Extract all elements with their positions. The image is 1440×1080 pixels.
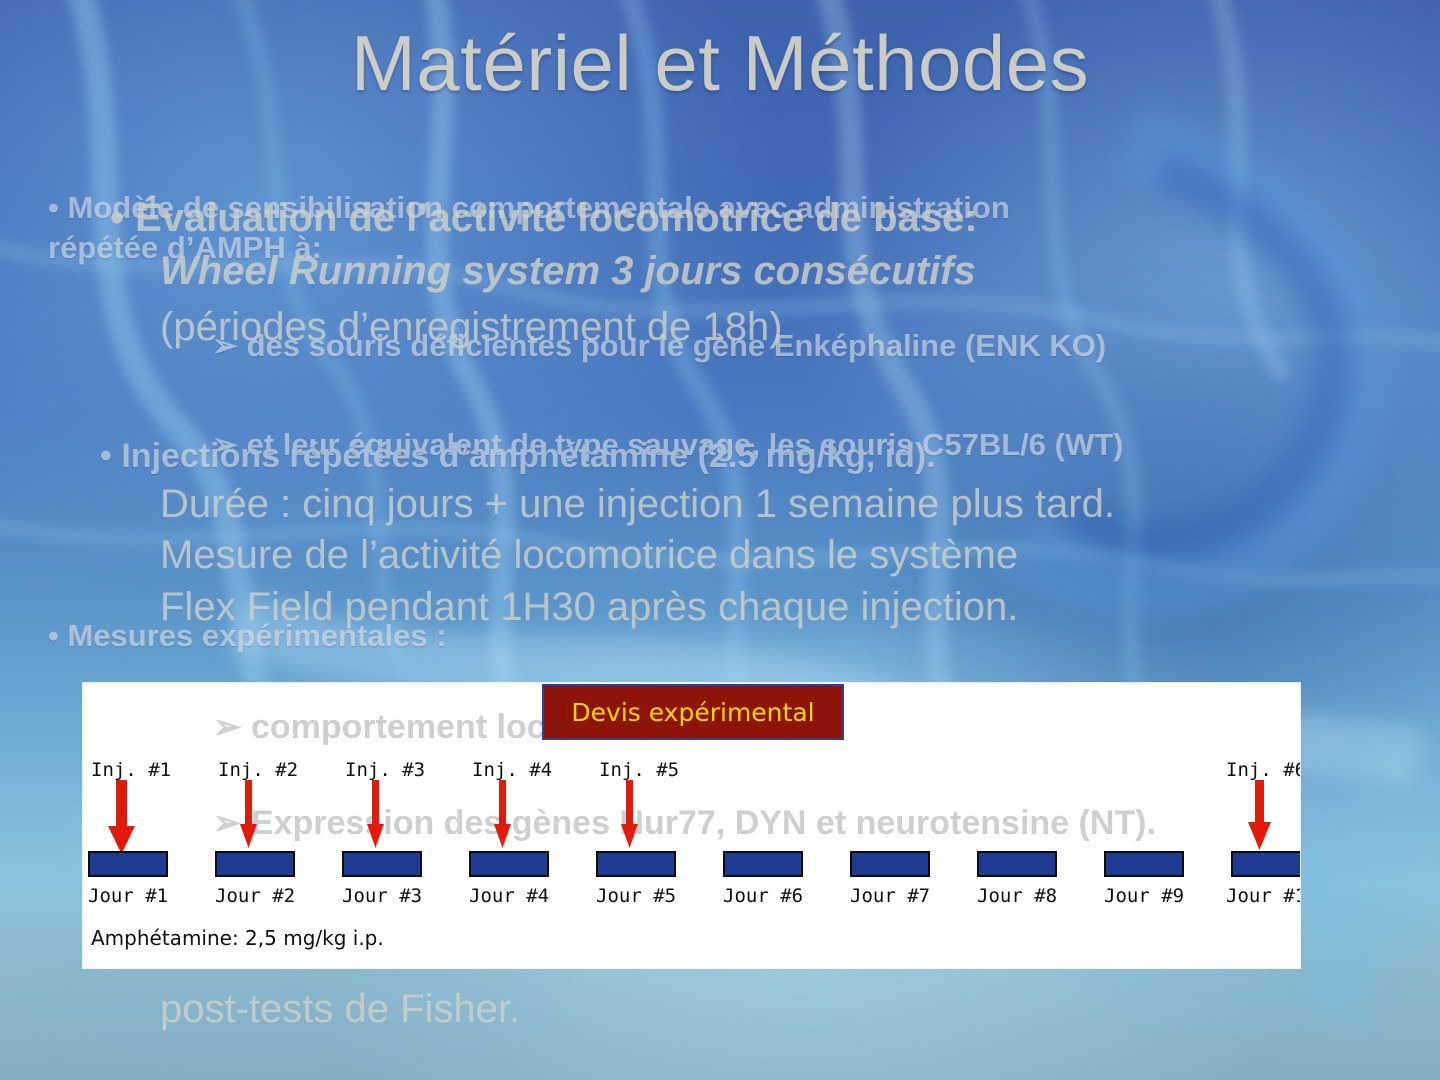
day-label-10: Jour #10 <box>1226 885 1300 907</box>
experimental-design-panel: ➢ comportement locomoteur ➢ Expression d… <box>83 683 1300 968</box>
injection-arrow-2 <box>240 780 257 848</box>
new-line-1: Wheel Running system 3 jours consécutifs <box>160 249 976 294</box>
day-box-2 <box>215 851 295 877</box>
new-line-2: (périodes d’enregistrement de 18h) <box>160 305 783 350</box>
day-box-8 <box>977 851 1057 877</box>
day-label-1: Jour #1 <box>88 885 168 907</box>
day-label-6: Jour #6 <box>723 885 803 907</box>
day-box-9 <box>1104 851 1184 877</box>
devis-experimental-label: Devis expérimental <box>542 684 844 740</box>
day-label-8: Jour #8 <box>977 885 1057 907</box>
day-box-10 <box>1231 851 1300 877</box>
new-line-4: Mesure de l’activité locomotrice dans le… <box>160 533 1018 578</box>
new-line-0: • Évaluation de l’activité locomotrice d… <box>110 196 978 241</box>
day-box-1 <box>88 851 168 877</box>
injection-arrow-6 <box>1248 780 1271 850</box>
day-box-6 <box>723 851 803 877</box>
day-box-3 <box>342 851 422 877</box>
day-label-2: Jour #2 <box>215 885 295 907</box>
day-label-7: Jour #7 <box>850 885 930 907</box>
day-label-3: Jour #3 <box>342 885 422 907</box>
injection-arrow-3 <box>367 780 384 848</box>
new-line-3: Durée : cinq jours + une injection 1 sem… <box>160 482 1115 527</box>
new-line-6: post-tests de Fisher. <box>160 987 520 1032</box>
day-box-4 <box>469 851 549 877</box>
day-box-7 <box>850 851 930 877</box>
day-label-4: Jour #4 <box>469 885 549 907</box>
injection-arrow-4 <box>494 780 511 848</box>
injection-arrow-1 <box>108 780 135 854</box>
day-label-9: Jour #9 <box>1104 885 1184 907</box>
injection-arrows-group <box>83 778 1300 858</box>
day-label-5: Jour #5 <box>596 885 676 907</box>
day-box-5 <box>596 851 676 877</box>
new-line-5: Flex Field pendant 1H30 après chaque inj… <box>160 585 1018 630</box>
injection-arrow-5 <box>621 780 638 848</box>
panel-footnote: Amphétamine: 2,5 mg/kg i.p. <box>91 926 384 950</box>
